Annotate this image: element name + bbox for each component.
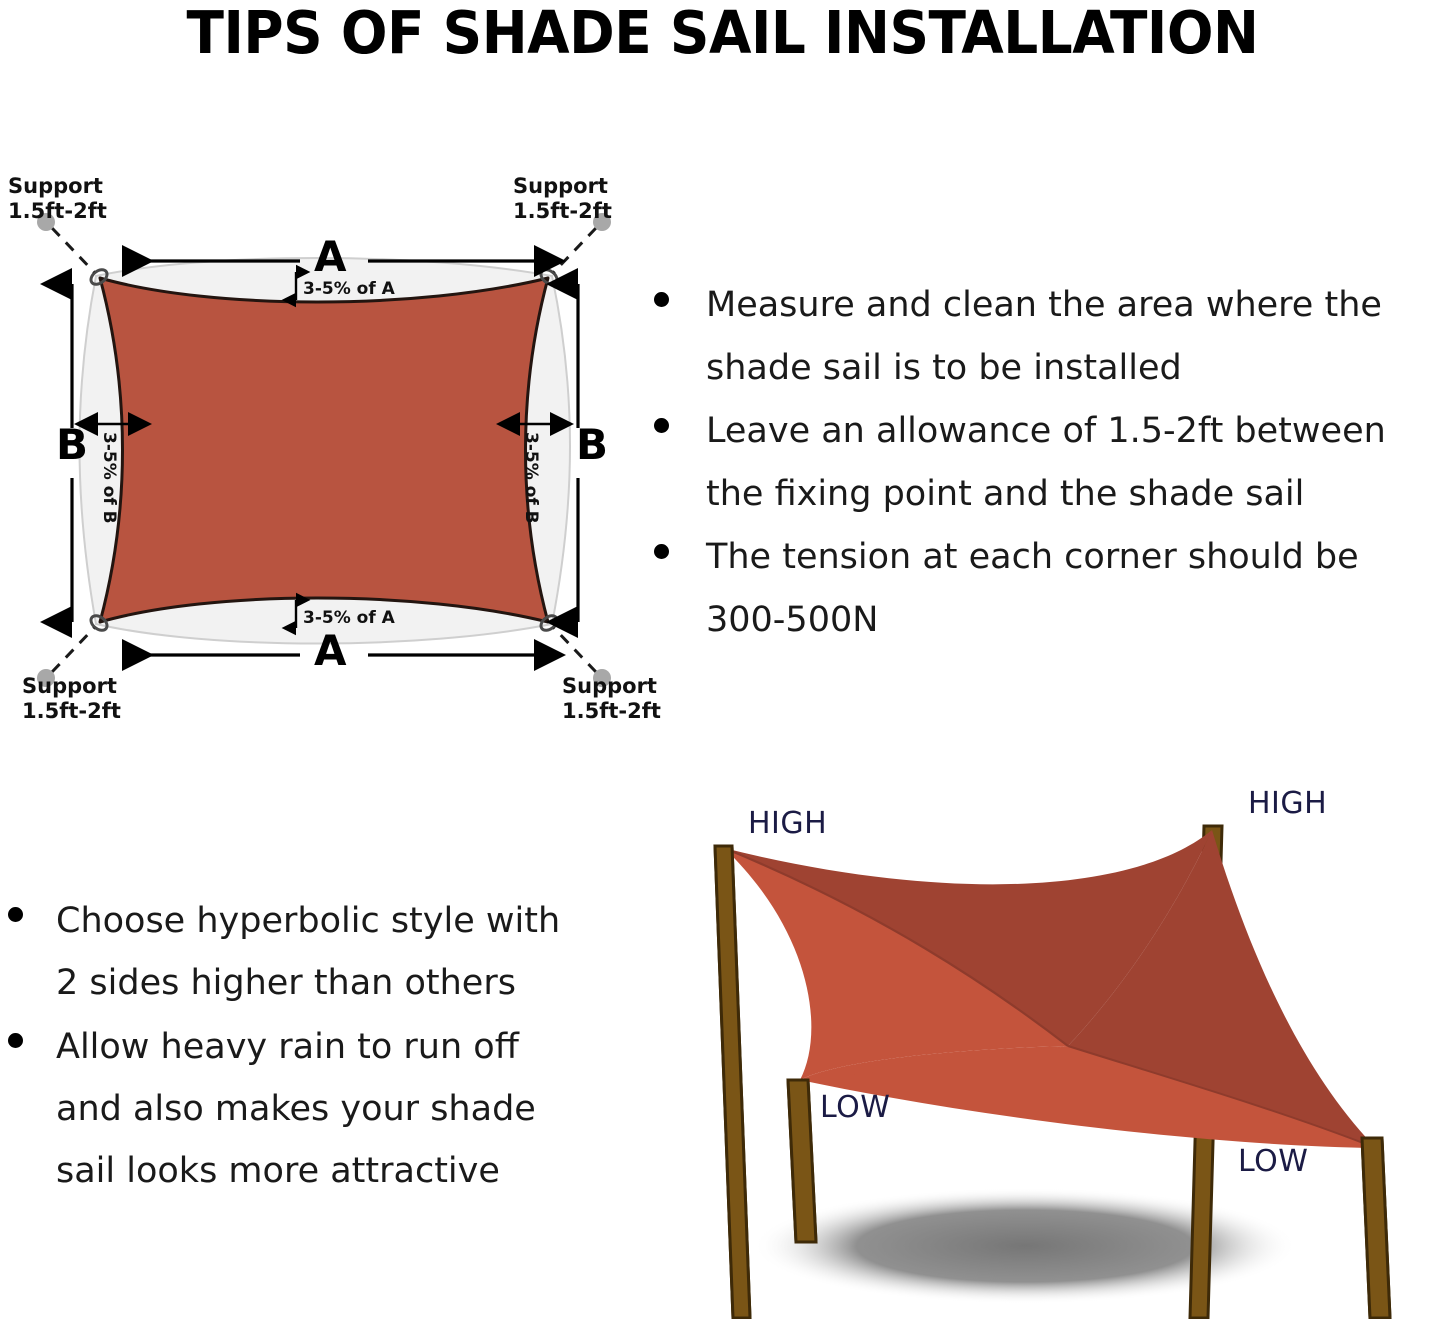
curvature-label-right: 3-5% of B <box>522 432 540 524</box>
infographic-page: TIPS OF SHADE SAIL INSTALLATION <box>0 0 1445 1319</box>
bullet-dot-icon <box>8 1033 23 1048</box>
list-item: The tension at each corner should be 300… <box>654 526 1445 652</box>
support-label-bottom-right: Support 1.5ft-2ft <box>562 674 661 724</box>
support-label-bottom-left: Support 1.5ft-2ft <box>22 674 121 724</box>
ground-shadow <box>753 1188 1297 1304</box>
list-item-text: Allow heavy rain to run off and also mak… <box>8 1016 638 1202</box>
dimension-letter-b-left: B <box>56 424 88 466</box>
bullet-dot-icon <box>654 292 669 307</box>
page-title: TIPS OF SHADE SAIL INSTALLATION <box>51 2 1395 64</box>
pole-high-left-front <box>715 846 750 1318</box>
bullet-dot-icon <box>8 907 23 922</box>
list-item: Choose hyperbolic style with 2 sides hig… <box>8 890 638 1014</box>
list-item: Leave an allowance of 1.5-2ft between th… <box>654 400 1445 526</box>
list-item-text: Measure and clean the area where the sha… <box>654 274 1445 400</box>
support-label-line2: 1.5ft-2ft <box>562 699 661 723</box>
support-label-line1: Support <box>562 674 657 698</box>
label-high-right: HIGH <box>1248 788 1327 820</box>
dimension-letter-b-right: B <box>576 424 608 466</box>
hyperbolic-style-tips-list: Choose hyperbolic style with 2 sides hig… <box>8 890 638 1204</box>
pole-low-right-front <box>1362 1138 1390 1318</box>
list-item-text: The tension at each corner should be 300… <box>654 526 1445 652</box>
support-label-line1: Support <box>513 174 608 198</box>
list-item-text: Choose hyperbolic style with 2 sides hig… <box>8 890 638 1014</box>
support-label-line2: 1.5ft-2ft <box>8 199 107 223</box>
list-item: Allow heavy rain to run off and also mak… <box>8 1016 638 1202</box>
list-item: Measure and clean the area where the sha… <box>654 274 1445 400</box>
hyperbolic-sail-diagram: HIGH HIGH LOW LOW <box>660 780 1445 1319</box>
label-high-left: HIGH <box>748 808 827 840</box>
bullet-dot-icon <box>654 418 669 433</box>
support-label-line1: Support <box>8 174 103 198</box>
support-label-top-left: Support 1.5ft-2ft <box>8 174 107 224</box>
support-label-line2: 1.5ft-2ft <box>513 199 612 223</box>
installation-tips-list: Measure and clean the area where the sha… <box>654 274 1445 652</box>
dimension-letter-a-bottom: A <box>314 630 347 672</box>
dimension-letter-a-top: A <box>314 236 347 278</box>
label-low-left: LOW <box>820 1092 890 1124</box>
curvature-label-left: 3-5% of B <box>100 432 118 524</box>
hyperbolic-sail-svg <box>660 780 1445 1319</box>
curvature-label-bottom: 3-5% of A <box>303 609 395 627</box>
support-label-top-right: Support 1.5ft-2ft <box>513 174 612 224</box>
shade-sail-fabric <box>100 278 548 622</box>
support-label-line2: 1.5ft-2ft <box>22 699 121 723</box>
rectangular-sail-diagram: Support 1.5ft-2ft Support 1.5ft-2ft Supp… <box>0 160 660 730</box>
support-label-line1: Support <box>22 674 117 698</box>
list-item-text: Leave an allowance of 1.5-2ft between th… <box>654 400 1445 526</box>
bullet-dot-icon <box>654 544 669 559</box>
label-low-right: LOW <box>1238 1146 1308 1178</box>
curvature-label-top: 3-5% of A <box>303 280 395 298</box>
